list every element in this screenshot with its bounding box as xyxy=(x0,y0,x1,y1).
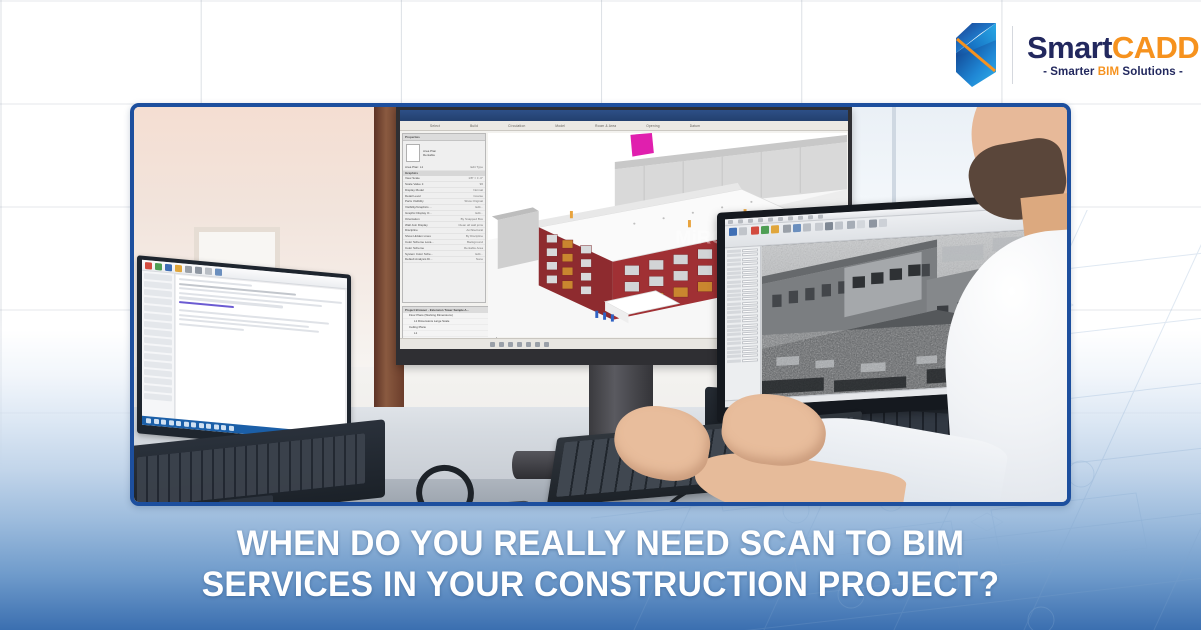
type-selector-value: Area Plan: L1 xyxy=(405,165,423,169)
status-icon xyxy=(526,342,531,347)
property-value[interactable]: Background xyxy=(467,240,483,244)
property-label: Show Hidden Lines xyxy=(405,234,431,238)
property-label: Color Scheme xyxy=(405,246,424,250)
property-label: Orientation xyxy=(405,217,420,221)
property-label: Graphic Display O... xyxy=(405,211,432,215)
email-application-window[interactable] xyxy=(142,260,347,444)
cad-properties-sidebar[interactable] xyxy=(725,246,761,400)
property-value[interactable]: Edit... xyxy=(475,205,483,209)
edit-type-button[interactable]: Edit Type xyxy=(471,165,483,169)
logo-wordmark: SmartCADD - Smarter BIM Solutions - xyxy=(1025,32,1199,79)
ribbon-tab-0[interactable]: Select xyxy=(430,124,440,128)
svg-text:MiRG: MiRG xyxy=(556,159,599,175)
headline-line-2: SERVICES IN YOUR CONSTRUCTION PROJECT? xyxy=(24,565,1177,606)
property-value[interactable]: Edit... xyxy=(475,211,483,215)
status-icon xyxy=(517,342,522,347)
property-label: Display Model xyxy=(405,188,424,192)
type-thumbnail xyxy=(406,144,420,162)
property-value[interactable]: Show Original xyxy=(464,199,483,203)
properties-type-preview: Area Plan Rentable xyxy=(403,141,485,165)
ribbon-tab-1[interactable]: Build xyxy=(470,124,478,128)
property-label: Visibility/Graphics ... xyxy=(405,205,432,209)
logo-tagline: - Smarter BIM Solutions - xyxy=(1043,66,1183,78)
properties-subtitle: Rentable xyxy=(423,153,436,157)
property-value[interactable]: By Snapped Box xyxy=(461,217,483,221)
tagline-bim: BIM xyxy=(1098,66,1119,78)
logo-name-part1: Smart xyxy=(1027,30,1112,65)
page-title: WHEN DO YOU REALLY NEED SCAN TO BIM SERV… xyxy=(0,524,1201,605)
ribbon-tab-6[interactable]: Datum xyxy=(690,124,700,128)
property-value[interactable]: Coarse xyxy=(473,194,483,198)
left-laptop-keyboard[interactable] xyxy=(137,433,365,502)
smartcadd-s-logo-icon xyxy=(952,22,1000,88)
left-laptop-lid xyxy=(137,255,351,452)
status-icon xyxy=(508,342,513,347)
ribbon-tab-5[interactable]: Opening xyxy=(646,124,659,128)
property-label: Color Scheme Loca... xyxy=(405,240,434,244)
brand-logo[interactable]: SmartCADD - Smarter BIM Solutions - xyxy=(952,22,1199,88)
revit-title-bar xyxy=(400,110,848,121)
headline-line-1: WHEN DO YOU REALLY NEED SCAN TO BIM xyxy=(24,524,1177,565)
tagline-pre: - Smarter xyxy=(1043,66,1098,78)
email-folder-sidebar[interactable] xyxy=(142,271,175,419)
revit-properties-panel[interactable]: Properties Area Plan Rentable Area Plan:… xyxy=(402,133,486,303)
property-value[interactable]: None xyxy=(476,257,483,261)
property-label: Default Analysis Di... xyxy=(405,257,433,261)
property-value[interactable]: Normal xyxy=(473,188,483,192)
property-label: System Color Sche... xyxy=(405,252,433,256)
properties-panel-header: Properties xyxy=(403,134,485,141)
property-label: Scale Value 1: xyxy=(405,182,424,186)
property-value[interactable]: 96 xyxy=(480,182,483,186)
tagline-post: Solutions - xyxy=(1119,66,1183,78)
property-label: View Scale xyxy=(405,176,420,180)
property-value[interactable]: 1/8" = 1'-0" xyxy=(468,176,483,180)
property-value[interactable]: Rentable Area xyxy=(464,246,483,250)
property-value[interactable]: By Discipline xyxy=(466,234,483,238)
property-label: Wall Join Display xyxy=(405,223,428,227)
property-row: Default Analysis Di...None xyxy=(403,257,485,263)
status-icon xyxy=(490,342,495,347)
status-icon xyxy=(544,342,549,347)
status-icon xyxy=(535,342,540,347)
ribbon-tab-3[interactable]: Model xyxy=(555,124,565,128)
property-value[interactable]: Clean all wall joins xyxy=(458,223,483,227)
email-message-body[interactable] xyxy=(176,275,345,434)
logo-divider xyxy=(1012,26,1013,84)
status-icon xyxy=(499,342,504,347)
property-value[interactable]: Edit... xyxy=(475,252,483,256)
hero-photo: Select Build Circulation Model Room & Ar… xyxy=(130,103,1071,506)
ribbon-tab-2[interactable]: Circulation xyxy=(508,124,525,128)
revit-ribbon-tabs[interactable]: Select Build Circulation Model Room & Ar… xyxy=(400,121,848,131)
property-label: Detail Level xyxy=(405,194,421,198)
property-value[interactable]: Architectural xyxy=(466,228,483,232)
ribbon-tab-4[interactable]: Room & Area xyxy=(595,124,616,128)
logo-name-part2: CADD xyxy=(1112,30,1199,65)
property-label: Discipline xyxy=(405,228,418,232)
property-label: Parts Visibility xyxy=(405,199,424,203)
left-laptop xyxy=(134,265,381,502)
